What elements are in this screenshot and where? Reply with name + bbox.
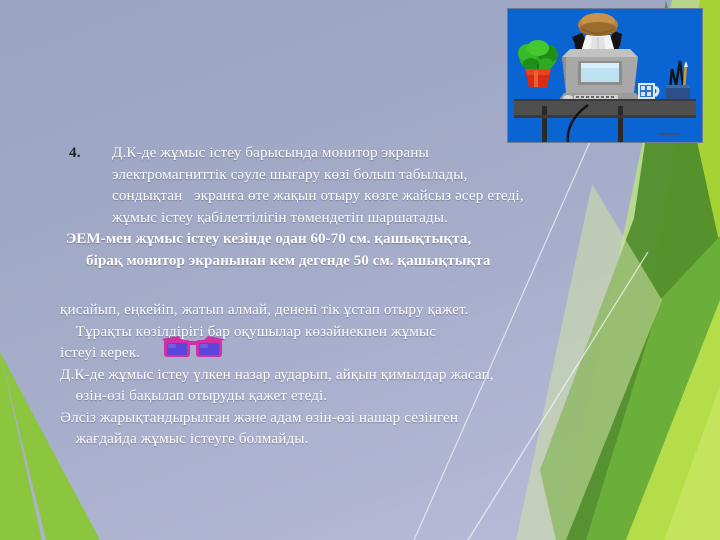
paragraph-1-line-2: электромагниттік сәуле шығару көзі болып… [112, 164, 660, 186]
slide: 4. Д.К-де жұмыс істеу барысында монитор … [0, 0, 720, 540]
paragraph-2-line-5: өзін-өзі бақылап отыруды қажет етеді. [60, 385, 660, 407]
bold-line-2: бірақ монитор экранынан кем дегенде 50 с… [86, 250, 660, 272]
paragraph-2-line-6: Әлсіз жарықтандырылған және адам өзін-өз… [60, 407, 660, 429]
deco-shape-right-lime-2 [664, 386, 720, 540]
paragraph-2-line-3: істеуі керек. [60, 342, 660, 364]
crt-monitor-icon [558, 49, 642, 101]
paragraph-1-line-3: сондықтан экранға өте жақын отыру көзге … [112, 185, 660, 207]
paragraph-spacer [60, 271, 660, 299]
paragraph-2-line-7: жағдайда жұмыс істеуге болмайды. [60, 428, 660, 450]
paragraph-2-line-2: Тұрақты көзілдірігі бар оқушылар көзәйне… [60, 321, 660, 343]
list-marker: 4. [69, 142, 81, 164]
paragraph-2-line-1: қисайып, еңкейіп, жатып алмай, денені ті… [60, 299, 660, 321]
slide-body-text: 4. Д.К-де жұмыс істеу барысында монитор … [60, 142, 660, 450]
sunglasses-clipart [158, 334, 228, 362]
coffee-mug-icon [638, 83, 658, 101]
signature-mark [658, 133, 680, 135]
paragraph-2-line-4: Д.К-де жұмыс істеу үлкен назар аударып, … [60, 364, 660, 386]
list-item: 4. Д.К-де жұмыс істеу барысында монитор … [60, 142, 660, 271]
computer-desk-illustration [507, 8, 703, 143]
illustration-canvas [508, 9, 702, 142]
paragraph-1-line-1: Д.К-де жұмыс істеу барысында монитор экр… [112, 142, 660, 164]
paragraph-2: қисайып, еңкейіп, жатып алмай, денені ті… [60, 271, 660, 450]
sunglasses-icon [158, 334, 228, 362]
bold-line-1: ЭЕМ-мен жұмыс істеу кезінде одан 60-70 с… [66, 228, 660, 250]
paragraph-1-line-4: жұмыс істеу қабілеттілігін төмендетіп ша… [112, 207, 660, 229]
